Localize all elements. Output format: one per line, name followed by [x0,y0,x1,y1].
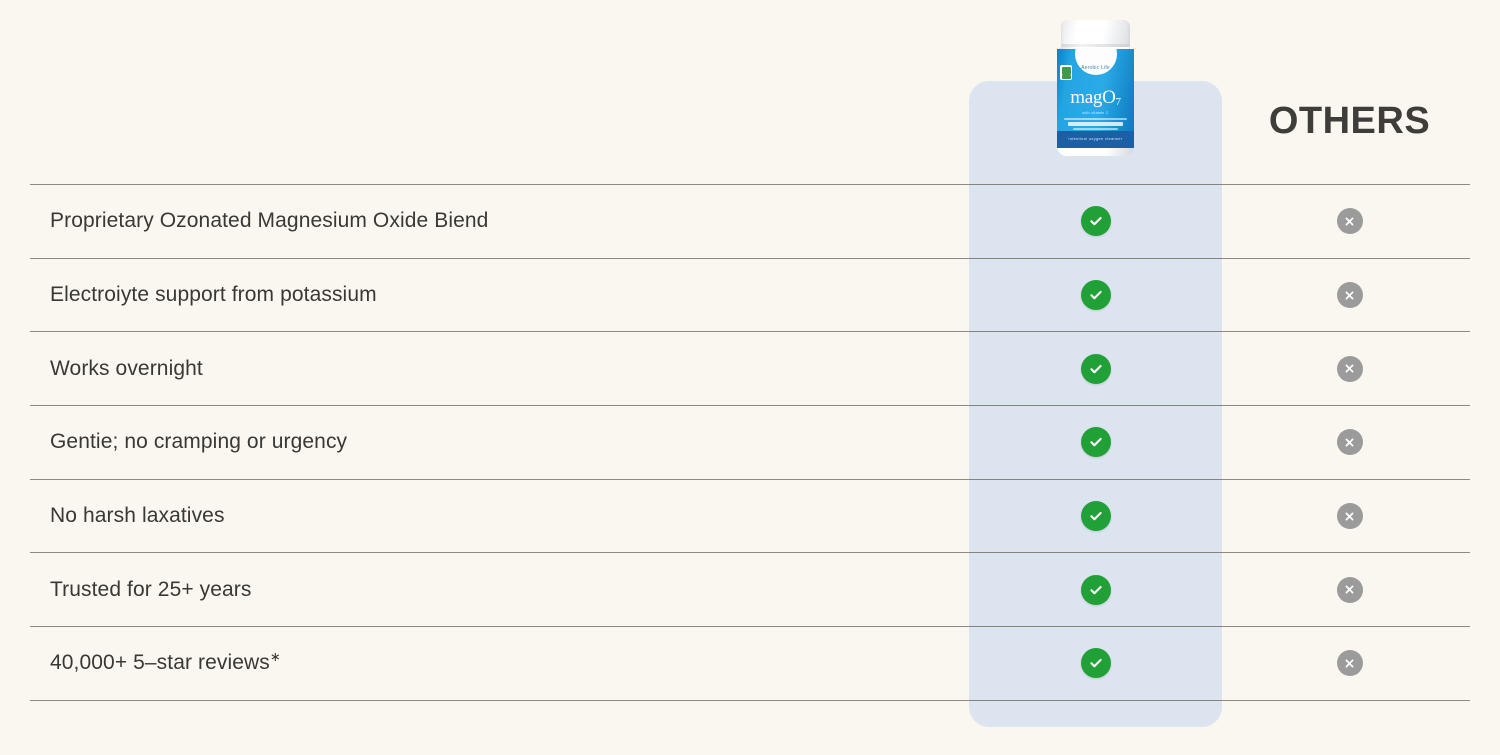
cross-circle-icon [1337,356,1363,382]
feature-label-text: Trusted for 25+ years [50,578,252,601]
feature-label-text: Proprietary Ozonated Magnesium Oxide Bie… [50,209,488,232]
table-row: Works overnight [30,332,1470,405]
cross-circle-icon [1337,503,1363,529]
cross-circle-icon [1337,577,1363,603]
feature-label-text: Electroiyte support from potassium [50,283,377,306]
feature-label: Gentie; no cramping or urgency [50,430,347,454]
bottle-body: Aerobic Life magO7 with vitamin C intest… [1057,47,1134,156]
bottle-label: Aerobic Life magO7 with vitamin C intest… [1057,49,1134,148]
cross-circle-icon [1337,650,1363,676]
feature-label: Proprietary Ozonated Magnesium Oxide Bie… [50,209,488,233]
cell-others [1222,282,1477,308]
others-column-header: OTHERS [1222,100,1477,143]
feature-label: Electroiyte support from potassium [50,283,377,307]
table-row: No harsh laxatives [30,480,1470,553]
bottle-brand-text: Aerobic Life [1081,65,1110,71]
cell-others [1222,650,1477,676]
cell-product [969,280,1222,310]
comparison-table-page: Aerobic Life magO7 with vitamin C intest… [0,0,1500,755]
bottle-title-main: magO [1070,87,1115,108]
feature-label: No harsh laxatives [50,504,225,528]
cross-circle-icon [1337,208,1363,234]
cell-product [969,648,1222,678]
bottle-title: magO7 [1057,88,1134,110]
feature-label: Trusted for 25+ years [50,578,252,602]
feature-label: 40,000+ 5–star reviews∗ [50,651,281,675]
feature-label-note: ∗ [270,649,281,664]
product-bottle-image: Aerobic Life magO7 with vitamin C intest… [1057,20,1134,156]
cell-product [969,501,1222,531]
cross-circle-icon [1337,282,1363,308]
check-circle-icon [1081,648,1111,678]
cell-others [1222,356,1477,382]
check-circle-icon [1081,206,1111,236]
table-row: 40,000+ 5–star reviews∗ [30,627,1470,700]
check-circle-icon [1081,427,1111,457]
feature-label-text: Gentie; no cramping or urgency [50,430,347,453]
bottle-label-footer: intestinal oxygen cleanser [1057,131,1134,148]
cell-product [969,206,1222,236]
cell-product [969,427,1222,457]
feature-label-text: 40,000+ 5–star reviews [50,651,270,674]
bottle-title-subscript: 7 [1116,96,1121,108]
feature-label-text: Works overnight [50,357,203,380]
bottle-subtitle: with vitamin C [1057,111,1134,115]
table-row: Electroiyte support from potassium [30,259,1470,332]
cell-others [1222,503,1477,529]
cell-others [1222,429,1477,455]
table-row: Gentie; no cramping or urgency [30,406,1470,479]
check-circle-icon [1081,354,1111,384]
cell-product [969,575,1222,605]
cell-others [1222,208,1477,234]
bottle-cap [1061,20,1130,49]
bottle-brand-badge [1075,49,1117,75]
table-row: Proprietary Ozonated Magnesium Oxide Bie… [30,185,1470,258]
table-row: Trusted for 25+ years [30,553,1470,626]
check-circle-icon [1081,501,1111,531]
cell-product [969,354,1222,384]
leaf-badge-icon [1060,65,1072,80]
check-circle-icon [1081,280,1111,310]
bottle-footer-text: intestinal oxygen cleanser [1057,137,1134,141]
table-divider [30,700,1470,701]
feature-label-text: No harsh laxatives [50,504,225,527]
feature-label: Works overnight [50,357,203,381]
cross-circle-icon [1337,429,1363,455]
cell-others [1222,577,1477,603]
bottle-label-textblock [1064,118,1127,132]
check-circle-icon [1081,575,1111,605]
comparison-table: Proprietary Ozonated Magnesium Oxide Bie… [30,184,1470,701]
